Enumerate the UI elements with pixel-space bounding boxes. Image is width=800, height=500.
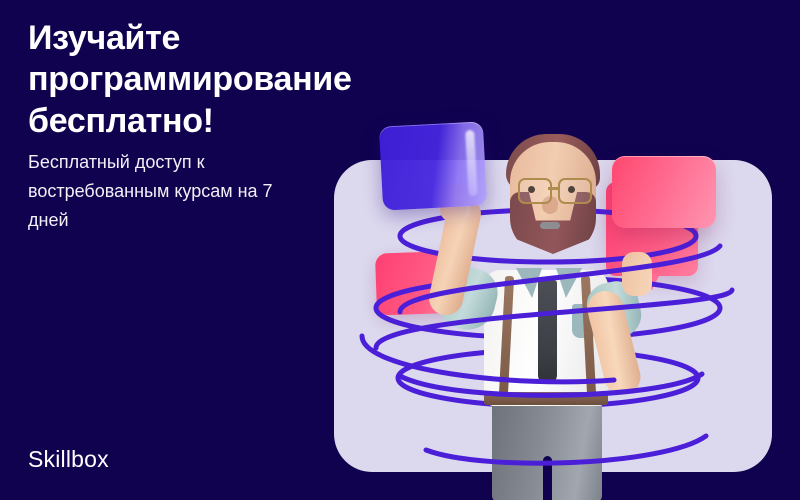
skillbox-promo-banner: Изучайте программирование бесплатно! Бес… <box>0 0 800 500</box>
illustration-cards-front-layer <box>334 100 772 500</box>
blue-card <box>379 121 487 210</box>
pink-card-right-front <box>612 156 716 228</box>
subtitle-text: Бесплатный доступ к востребованным курса… <box>28 148 288 235</box>
skillbox-logo: Skillbox <box>28 448 109 471</box>
page-title: Изучайте программирование бесплатно! <box>28 18 358 142</box>
